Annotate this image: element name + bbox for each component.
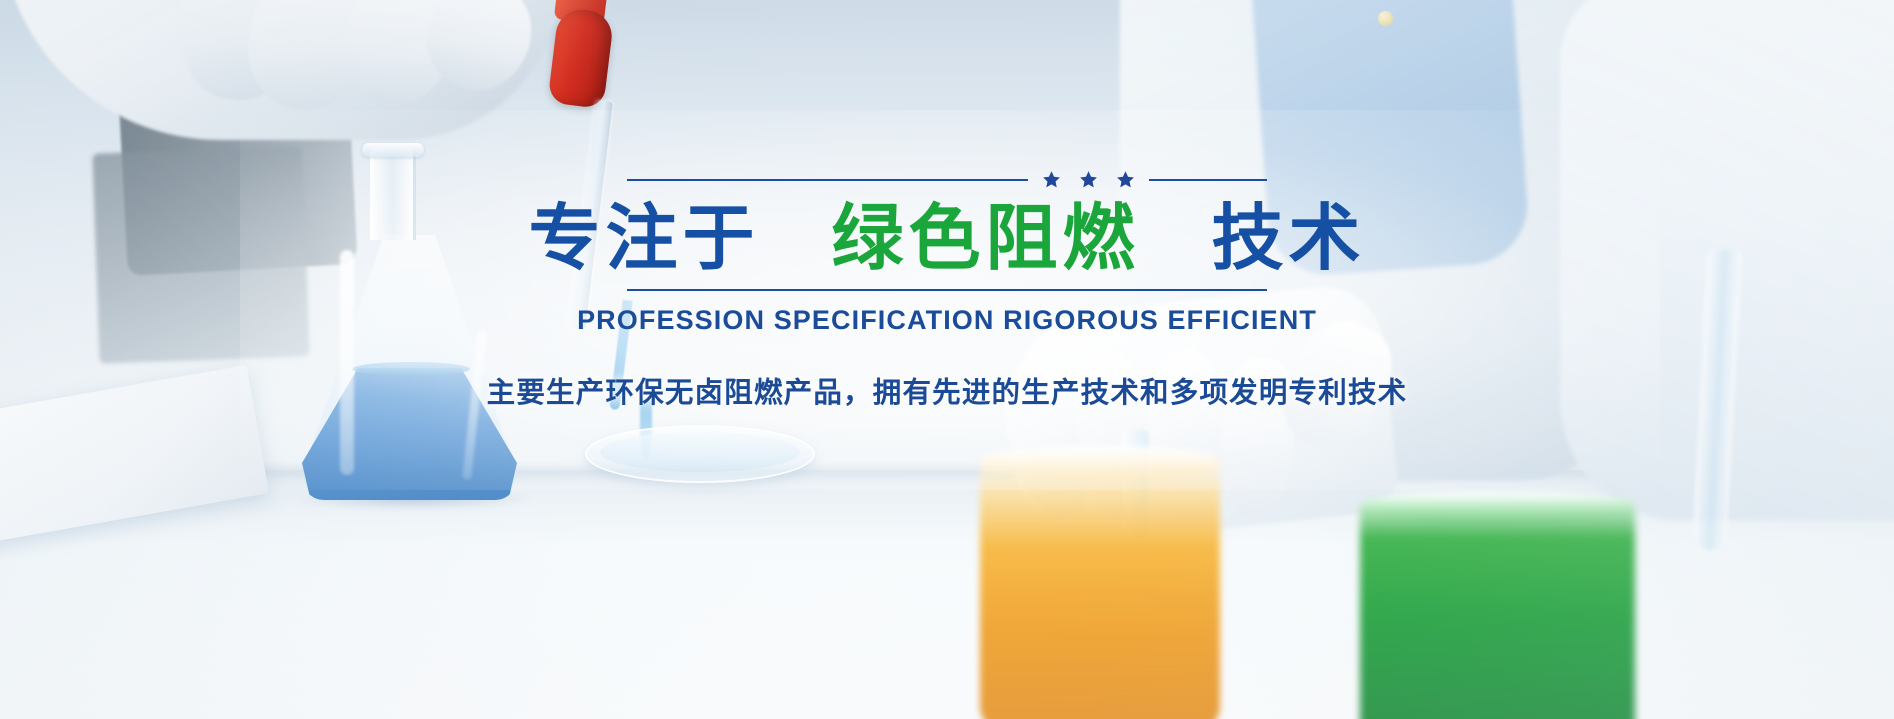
decorative-rule-left [627, 179, 1028, 181]
decorative-rule-right [1149, 179, 1267, 181]
decorative-rule-row [627, 170, 1267, 189]
headline-part-3: 技术 [1212, 199, 1366, 279]
headline: 专注于 绿色阻燃 技术 [528, 201, 1365, 277]
banner-content: 专注于 绿色阻燃 技术 PROFESSION SPECIFICATION RIG… [0, 0, 1894, 719]
chinese-tagline: 主要生产环保无卤阻燃产品，拥有先进的生产技术和多项发明专利技术 [487, 370, 1408, 411]
headline-part-1: 专注于 [528, 199, 759, 279]
star-icon [1042, 170, 1061, 189]
star-icon [1079, 170, 1098, 189]
headline-part-2: 绿色阻燃 [831, 199, 1139, 279]
star-icon [1116, 170, 1135, 189]
english-subtitle: PROFESSION SPECIFICATION RIGOROUS EFFICI… [577, 305, 1317, 336]
star-group [1042, 170, 1135, 189]
hero-banner: 专注于 绿色阻燃 技术 PROFESSION SPECIFICATION RIG… [0, 0, 1894, 719]
headline-underline [627, 289, 1267, 291]
